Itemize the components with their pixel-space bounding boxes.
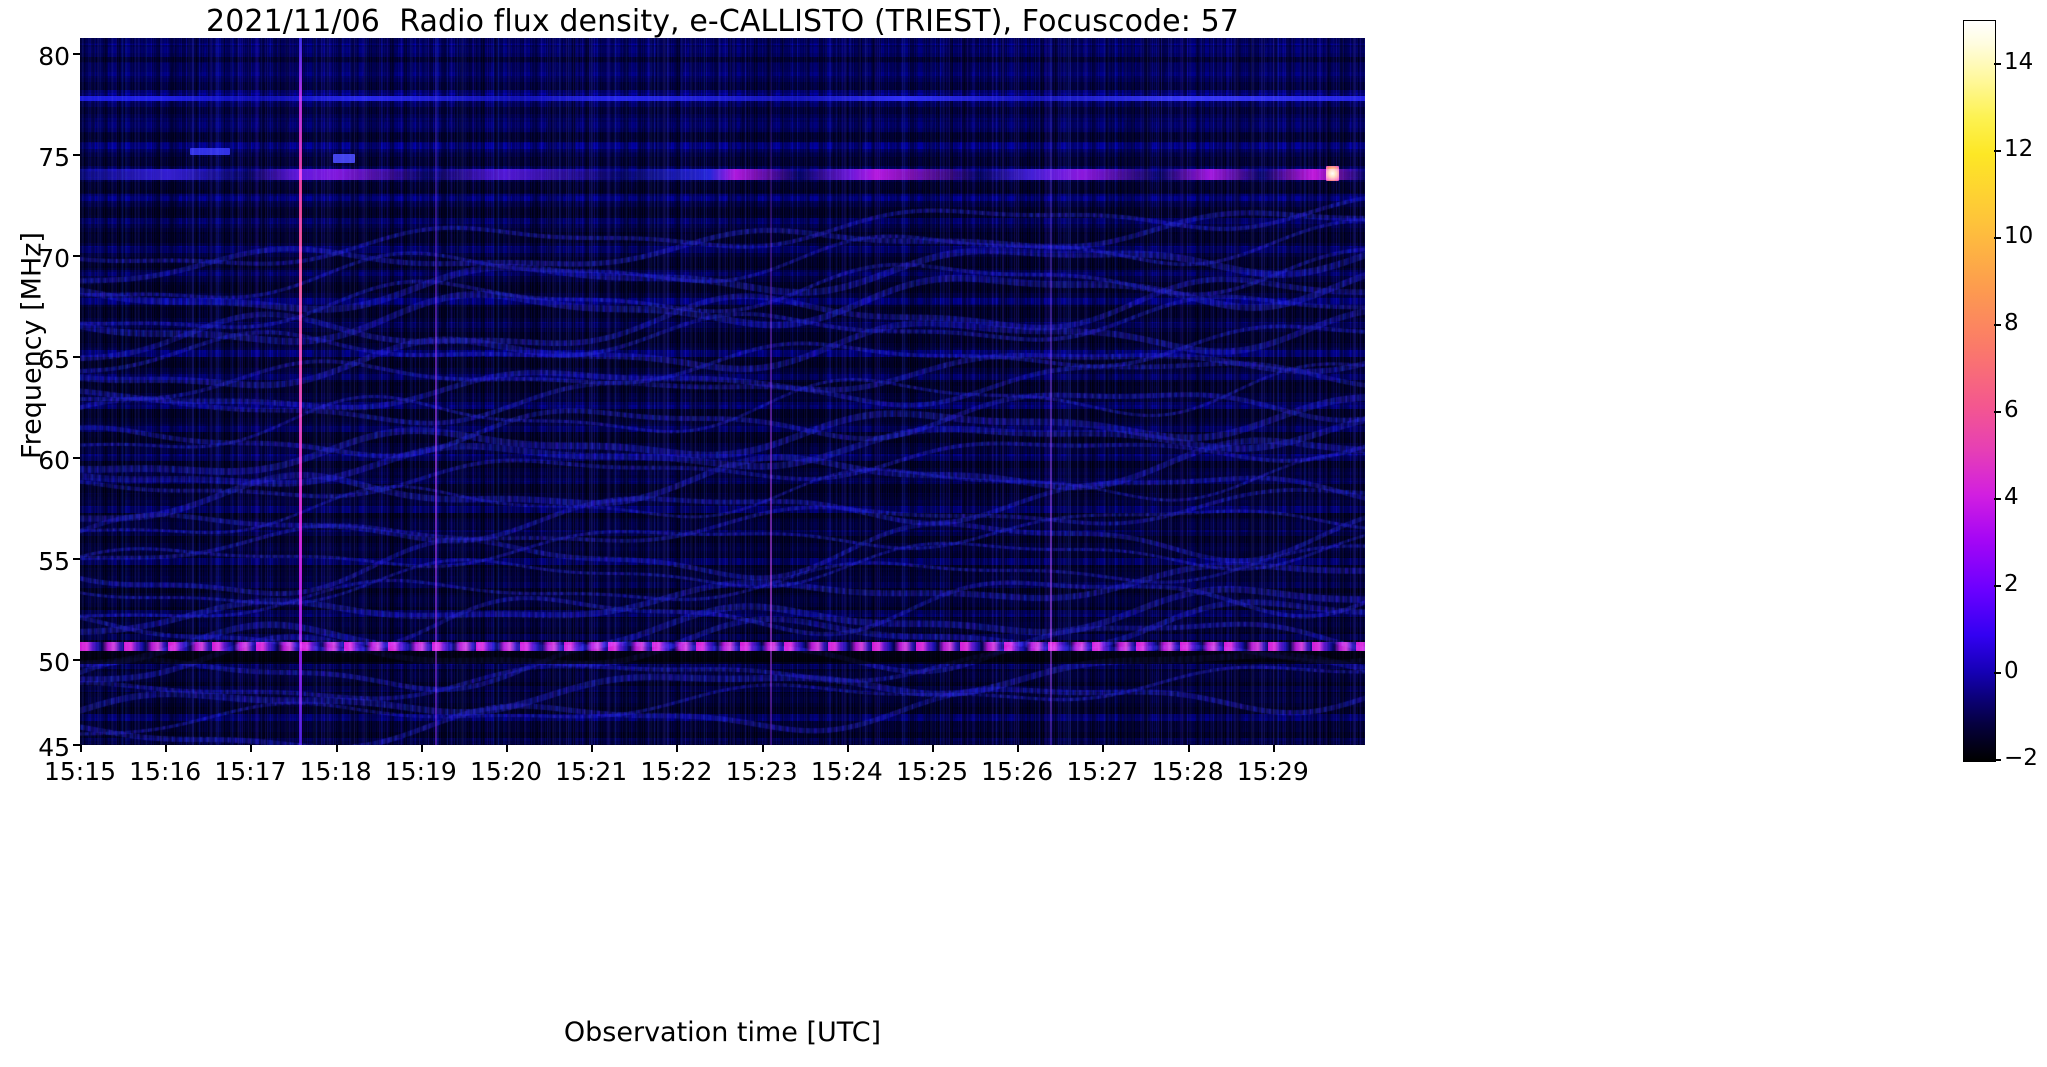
ytick-mark <box>73 356 80 358</box>
colorbar-tick-mark <box>1994 498 2001 500</box>
xtick-label-1529: 15:29 <box>1213 757 1333 786</box>
colorbar-tick-mark <box>1994 672 2001 674</box>
xtick-mark <box>250 745 252 752</box>
y-axis-label: Frequency [MHz] <box>17 166 48 526</box>
colorbar-tick-mark <box>1994 63 2001 65</box>
ytick-mark <box>73 457 80 459</box>
colorbar-tick-mark <box>1994 411 2001 413</box>
ytick-mark <box>73 744 80 746</box>
vertical-rfi-spike-1519 <box>435 38 437 745</box>
ytick-mark <box>73 558 80 560</box>
bright-blob-78mhz-mid <box>333 154 355 163</box>
xtick-mark <box>336 745 338 752</box>
fringe-canvas <box>80 38 1365 745</box>
ytick-mark <box>73 659 80 661</box>
xtick-mark <box>847 745 849 752</box>
colorbar <box>1963 20 1996 762</box>
colorbar-tick-label: −2 <box>2004 745 2038 771</box>
spectrogram-plot-area <box>80 38 1365 745</box>
ytick-label-50: 50 <box>10 648 70 677</box>
colorbar-tick-mark <box>1994 324 2001 326</box>
ytick-label-80: 80 <box>10 42 70 71</box>
rfi-band-78mhz <box>80 96 1365 101</box>
xtick-mark <box>932 745 934 752</box>
colorbar-tick-label: 2 <box>2004 571 2019 597</box>
ytick-mark <box>73 53 80 55</box>
bright-pixel-74mhz <box>1326 166 1339 181</box>
xtick-mark <box>421 745 423 752</box>
xtick-mark <box>506 745 508 752</box>
rfi-band-50mhz <box>80 642 1365 651</box>
colorbar-tick-label: 14 <box>2004 49 2033 75</box>
xtick-mark <box>165 745 167 752</box>
colorbar-tick-label: 0 <box>2004 658 2019 684</box>
xtick-mark <box>591 745 593 752</box>
rfi-band-74mhz <box>80 169 1365 180</box>
xtick-mark <box>1188 745 1190 752</box>
xtick-mark <box>762 745 764 752</box>
xtick-mark <box>1102 745 1104 752</box>
vertical-rfi-spike-1517 <box>299 38 302 745</box>
colorbar-tick-mark <box>1994 759 2001 761</box>
rfi-band-50mhz-shadow <box>80 651 1365 664</box>
xtick-mark <box>1273 745 1275 752</box>
colorbar-tick-mark <box>1994 237 2001 239</box>
xtick-mark <box>676 745 678 752</box>
xtick-mark <box>1017 745 1019 752</box>
ytick-mark <box>73 154 80 156</box>
x-axis-label: Observation time [UTC] <box>80 1017 1365 1048</box>
chart-title: 2021/11/06 Radio flux density, e-CALLIST… <box>0 4 1445 39</box>
xtick-mark <box>80 745 82 752</box>
colorbar-tick-label: 10 <box>2004 223 2033 249</box>
colorbar-tick-label: 12 <box>2004 136 2033 162</box>
bright-blob-75mhz-left <box>190 148 230 155</box>
ytick-label-55: 55 <box>10 547 70 576</box>
ytick-mark <box>73 255 80 257</box>
colorbar-tick-label: 8 <box>2004 310 2019 336</box>
colorbar-tick-mark <box>1994 585 2001 587</box>
colorbar-tick-label: 4 <box>2004 484 2019 510</box>
figure-root: 2021/11/06 Radio flux density, e-CALLIST… <box>0 0 2047 1067</box>
colorbar-tick-mark <box>1994 150 2001 152</box>
vertical-rfi-spike-1523 <box>770 38 772 745</box>
vertical-rfi-spike-1526 <box>1050 38 1052 745</box>
colorbar-tick-label: 6 <box>2004 397 2019 423</box>
